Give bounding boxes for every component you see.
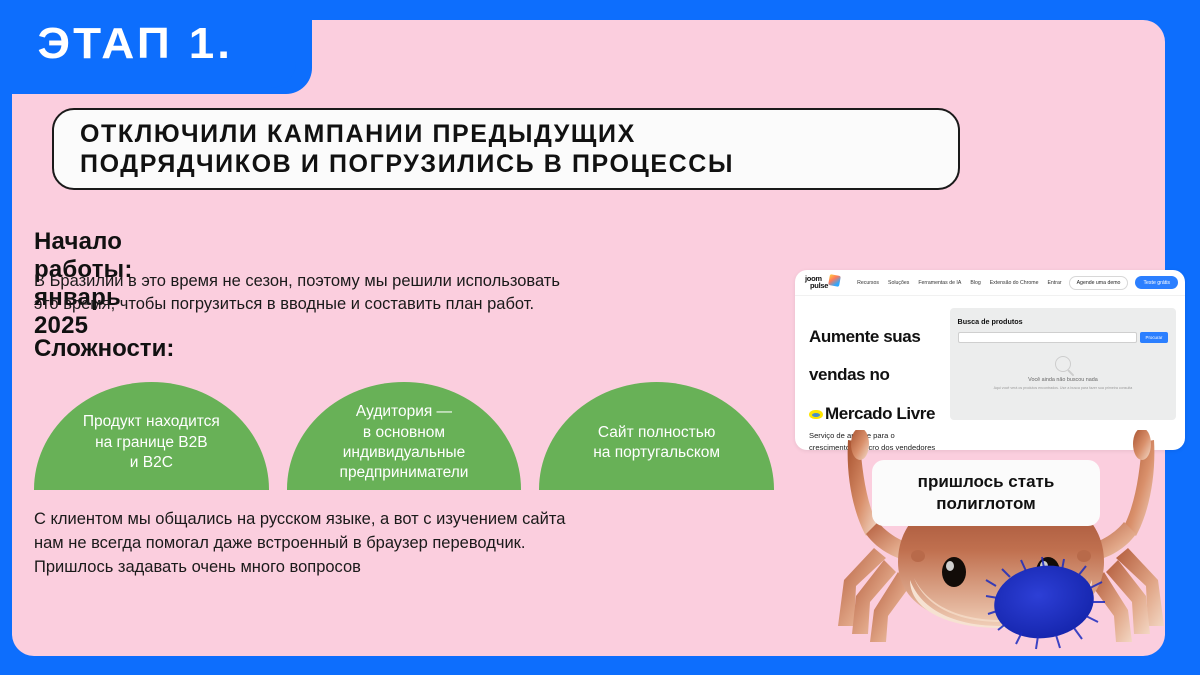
difficulty-card-text: Сайт полностью на португальском xyxy=(579,423,734,464)
hero-title-line-2: vendas no xyxy=(809,365,889,384)
hero-title: Aumente suas vendas no Mercado Livre xyxy=(809,308,940,423)
hero-title-line-3: Mercado Livre xyxy=(825,404,935,423)
difficulty-card-text: Продукт находится на границе B2B и B2C xyxy=(69,412,234,473)
nav-link-extensao-chrome[interactable]: Extensão do Chrome xyxy=(990,280,1039,286)
browser-navbar: joom pulse Recursos Soluções Ferramentas… xyxy=(795,270,1185,296)
nav-link-blog[interactable]: Blog xyxy=(970,280,980,286)
free-trial-button[interactable]: Teste grátis xyxy=(1135,276,1178,289)
difficulty-card: Продукт находится на границе B2B и B2C xyxy=(34,382,269,490)
hero-title-line-1: Aumente suas xyxy=(809,327,920,346)
browser-hero-section: Aumente suas vendas no Mercado Livre Ser… xyxy=(795,296,1185,450)
difficulty-cards: Продукт находится на границе B2B и B2C А… xyxy=(34,382,774,490)
stage-label: ЭТАП 1. xyxy=(0,19,233,69)
outro-paragraph: С клиентом мы общались на русском языке,… xyxy=(34,508,654,579)
hero-title-line-3-wrap: Mercado Livre xyxy=(809,404,935,423)
empty-state-subtitle: Aqui você verá os produtos encontrados. … xyxy=(958,386,1169,390)
magnifier-icon xyxy=(1055,356,1071,372)
mercado-livre-handshake-icon xyxy=(809,410,823,419)
speech-bubble-text: пришлось стать полиглотом xyxy=(918,471,1055,515)
difficulty-card: Сайт полностью на португальском xyxy=(539,382,774,490)
schedule-demo-button[interactable]: Agende uma demo xyxy=(1069,276,1129,290)
product-search-panel: Busca de produtos Procurar Você ainda nã… xyxy=(950,308,1177,420)
stage-tab: ЭТАП 1. xyxy=(0,0,296,88)
product-search-button[interactable]: Procurar xyxy=(1140,332,1169,343)
product-search-title: Busca de produtos xyxy=(958,317,1169,326)
product-search-input[interactable] xyxy=(958,332,1137,343)
difficulty-card: Аудитория — в основном индивидуальные пр… xyxy=(287,382,522,490)
nav-link-solucoes[interactable]: Soluções xyxy=(888,280,909,286)
page-title: ОТКЛЮЧИЛИ КАМПАНИИ ПРЕДЫДУЩИХ ПОДРЯДЧИКО… xyxy=(54,119,734,180)
product-search-row: Procurar xyxy=(958,332,1169,343)
crab-left-eye xyxy=(942,557,966,587)
empty-state-title: Você ainda não buscou nada xyxy=(958,377,1169,383)
browser-nav-links: Recursos Soluções Ferramentas de IA Blog… xyxy=(857,280,1038,286)
browser-nav-actions: Entrar Agende uma demo Teste grátis xyxy=(1047,276,1178,290)
logo-mark-icon xyxy=(828,274,841,287)
sign-in-link[interactable]: Entrar xyxy=(1047,280,1061,286)
nav-link-ferramentas-ia[interactable]: Ferramentas de IA xyxy=(918,280,961,286)
nav-link-recursos[interactable]: Recursos xyxy=(857,280,879,286)
logo-line-2: pulse xyxy=(805,283,828,289)
search-empty-state: Você ainda não buscou nada Aqui você ver… xyxy=(958,356,1169,390)
slide-root: ЭТАП 1. ОТКЛЮЧИЛИ КАМПАНИИ ПРЕДЫДУЩИХ ПО… xyxy=(0,0,1200,675)
difficulty-card-text: Аудитория — в основном индивидуальные пр… xyxy=(326,402,483,484)
difficulties-heading: Сложности: xyxy=(34,335,174,363)
hero-copy: Aumente suas vendas no Mercado Livre Ser… xyxy=(809,308,940,450)
speech-bubble: пришлось стать полиглотом xyxy=(872,460,1100,526)
browser-mockup: joom pulse Recursos Soluções Ferramentas… xyxy=(795,270,1185,450)
joompulse-logo[interactable]: joom pulse xyxy=(805,276,828,289)
title-pill: ОТКЛЮЧИЛИ КАМПАНИИ ПРЕДЫДУЩИХ ПОДРЯДЧИКО… xyxy=(52,108,960,190)
intro-paragraph: В Бразилии в это время не сезон, поэтому… xyxy=(34,270,654,317)
